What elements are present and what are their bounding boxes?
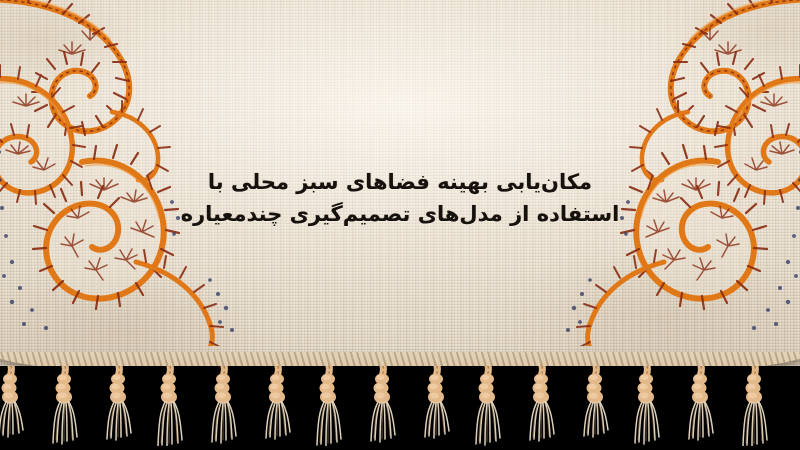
tassel-strip — [0, 366, 800, 450]
title-line-2: استفاده از مدل‌های تصمیم‌گیری چندمعیاره — [0, 198, 800, 230]
title-slide: مکان‌یابی بهینه فضاهای سبز محلی با استفا… — [0, 0, 800, 450]
tassel — [47, 366, 81, 446]
tassel — [312, 366, 346, 446]
tassel — [0, 366, 28, 446]
tassel — [153, 366, 187, 446]
tassel — [365, 366, 399, 446]
tassel — [683, 366, 717, 446]
page-title: مکان‌یابی بهینه فضاهای سبز محلی با استفا… — [0, 166, 800, 230]
tassel-fringe — [0, 366, 800, 450]
tassel — [630, 366, 664, 446]
tassel — [259, 366, 293, 446]
tassel — [524, 366, 558, 446]
tassel — [471, 366, 505, 446]
tassel — [577, 366, 611, 446]
tassel — [206, 366, 240, 446]
tassel — [418, 366, 452, 446]
tassel — [100, 366, 134, 446]
title-line-1: مکان‌یابی بهینه فضاهای سبز محلی با — [0, 166, 800, 198]
tassel — [736, 366, 770, 446]
